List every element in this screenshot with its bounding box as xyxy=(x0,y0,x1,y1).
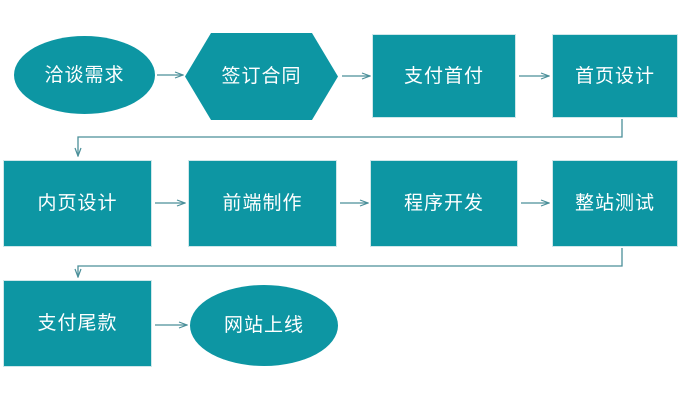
node-label: 支付尾款 xyxy=(37,314,117,333)
connector-n4-n5 xyxy=(78,119,622,156)
node-inner-page-design[interactable]: 内页设计 xyxy=(3,160,152,247)
node-label: 签订合同 xyxy=(221,67,301,86)
node-site-testing[interactable]: 整站测试 xyxy=(552,160,678,247)
node-sign-contract[interactable]: 签订合同 xyxy=(185,33,338,120)
connector-n8-n9 xyxy=(78,248,622,277)
node-label: 内页设计 xyxy=(37,194,117,213)
node-consult-requirements[interactable]: 洽谈需求 xyxy=(14,36,155,114)
node-label: 程序开发 xyxy=(404,194,484,213)
node-program-development[interactable]: 程序开发 xyxy=(370,160,518,247)
node-label: 整站测试 xyxy=(575,194,655,213)
node-pay-deposit[interactable]: 支付首付 xyxy=(372,34,516,118)
node-site-launch[interactable]: 网站上线 xyxy=(190,285,338,366)
node-label: 洽谈需求 xyxy=(44,66,124,85)
node-homepage-design[interactable]: 首页设计 xyxy=(552,34,678,118)
flowchart-canvas: 洽谈需求 签订合同 支付首付 首页设计 内页设计 前端制作 程序开发 整站测试 … xyxy=(0,0,700,400)
node-label: 首页设计 xyxy=(575,67,655,86)
node-pay-balance[interactable]: 支付尾款 xyxy=(3,280,152,367)
node-label: 前端制作 xyxy=(222,194,302,213)
node-label: 网站上线 xyxy=(224,316,304,335)
node-frontend-production[interactable]: 前端制作 xyxy=(188,160,337,247)
node-label: 支付首付 xyxy=(404,67,484,86)
